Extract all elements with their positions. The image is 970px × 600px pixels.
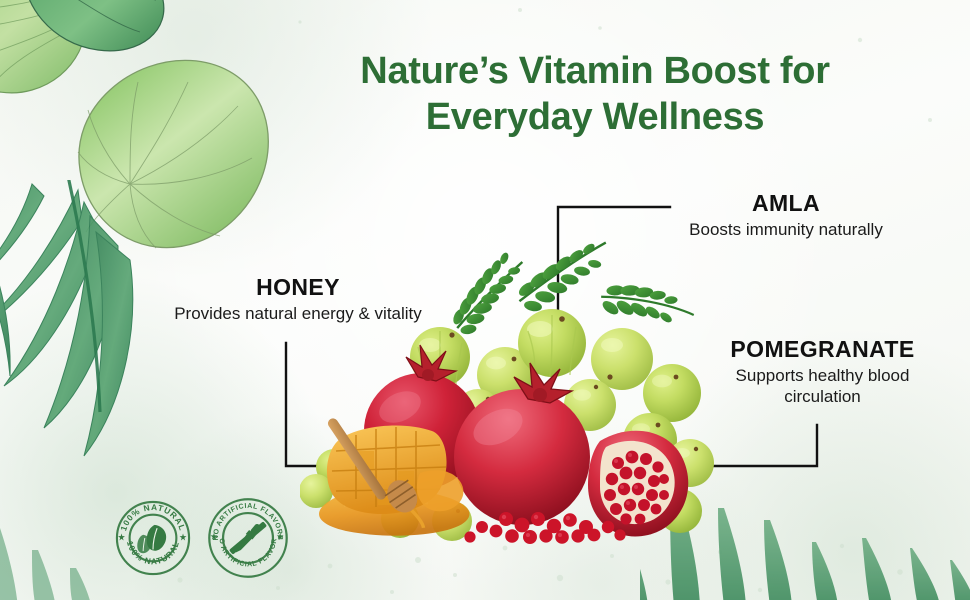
callout-honey-title: HONEY [118, 274, 478, 301]
poster-canvas: Nature’s Vitamin Boost for Everyday Well… [0, 0, 970, 600]
callout-pomegranate-description-line-1: Supports healthy blood [736, 366, 910, 385]
callout-pomegranate-title: POMEGRANATE [690, 336, 955, 363]
callout-pomegranate-description: Supports healthy blood circulation [690, 366, 955, 407]
leaf-icon [137, 525, 166, 553]
title-line-1: Nature’s Vitamin Boost for [360, 50, 829, 92]
callout-honey-description: Provides natural energy & vitality [118, 304, 478, 324]
title-line-2: Everyday Wellness [300, 94, 890, 140]
dropper-crossed-out-icon [229, 521, 267, 555]
callout-amla-title: AMLA [636, 190, 936, 217]
badge-100-percent-natural: 100% NATURAL 100% NATURAL [112, 497, 194, 579]
callout-pomegranate-description-line-2: circulation [784, 387, 861, 406]
callout-amla-description: Boosts immunity naturally [636, 220, 936, 240]
callout-honey: HONEY Provides natural energy & vitality [118, 274, 478, 324]
pomegranate-split [588, 431, 688, 537]
page-title: Nature’s Vitamin Boost for Everyday Well… [300, 48, 890, 141]
callout-pomegranate: POMEGRANATE Supports healthy blood circu… [690, 336, 955, 407]
callout-amla: AMLA Boosts immunity naturally [636, 190, 936, 240]
badge-no-artificial-flavors: NO ARTIFICIAL FLAVORS NO ARTIFICIAL FLAV… [205, 495, 291, 581]
pomegranate-whole-center [454, 363, 590, 525]
